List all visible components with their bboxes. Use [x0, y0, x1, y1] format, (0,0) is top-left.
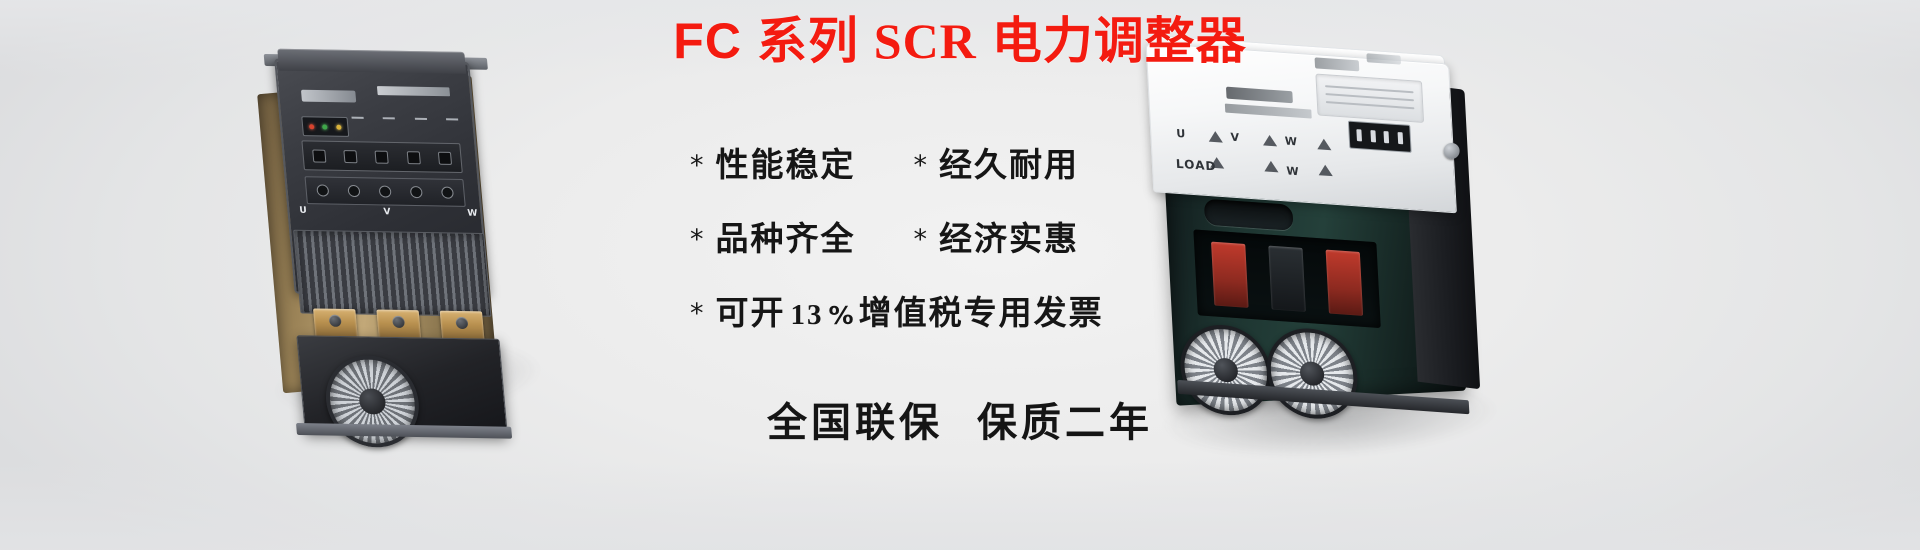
right-dip-switch-block: [1348, 121, 1412, 153]
left-brand-logo: [301, 90, 356, 103]
left-phase-label-v: V: [383, 207, 392, 223]
feature-row-2: * 品种齐全 * 经济实惠: [690, 212, 1210, 260]
left-terminal-block-lower: [304, 176, 465, 207]
left-mounting-bracket-bottom: [296, 423, 512, 439]
bullet-star-icon: *: [914, 226, 928, 253]
feature-row-3: * 可开 13 % 增值税专用发票: [690, 286, 1210, 334]
slogan-part-1: 全国联保: [767, 400, 943, 446]
feature-label-durable: 经久耐用: [939, 138, 1079, 186]
banner-headline: FC 系列 SCR 电力调整器: [0, 8, 1920, 74]
right-phase-label-w: W: [1285, 134, 1298, 148]
headline-scr: SCR: [874, 13, 977, 69]
tax-line-prefix: 可开: [716, 286, 786, 334]
warranty-slogan: 全国联保保质二年: [680, 390, 1240, 448]
product-image-left: U V W: [234, 27, 577, 443]
left-panel-markings: [351, 107, 459, 131]
left-phase-label-w: W: [467, 209, 479, 225]
bullet-star-icon: *: [914, 152, 928, 179]
right-load-w-label: W: [1286, 164, 1299, 178]
feature-item-durable: * 经久耐用: [914, 138, 1080, 186]
feature-item-economical: * 经济实惠: [914, 212, 1080, 260]
headline-fc: FC: [673, 13, 742, 69]
feature-item-invoice: * 可开 13 % 增值税专用发票: [690, 286, 1104, 334]
left-phase-label-u: U: [299, 206, 309, 222]
feature-label-stable: 性能稳定: [716, 138, 856, 186]
left-phase-labels: U V W: [299, 206, 479, 225]
feature-list: * 性能稳定 * 经久耐用 * 品种齐全 * 经济实惠 * 可开: [690, 138, 1210, 360]
left-model-label: [377, 86, 450, 96]
headline-series: 系列: [757, 13, 859, 69]
tax-rate-percent-symbol: %: [829, 301, 854, 330]
headline-product: 电力调整器: [992, 13, 1247, 69]
right-label-slot: [1315, 74, 1424, 123]
feature-label-variety: 品种齐全: [716, 212, 856, 260]
right-phase-label-v: V: [1230, 131, 1239, 145]
product-banner: U V W U V W LOAD W: [0, 0, 1920, 550]
bullet-star-icon: *: [690, 152, 704, 179]
feature-item-variety: * 品种齐全: [690, 212, 856, 260]
feature-row-1: * 性能稳定 * 经久耐用: [690, 138, 1210, 186]
feature-item-stable: * 性能稳定: [690, 138, 856, 186]
tax-rate-value: 13: [791, 299, 824, 332]
tax-line-suffix: 增值税专用发票: [859, 286, 1104, 334]
bullet-star-icon: *: [690, 300, 704, 327]
left-status-led-group: [301, 116, 349, 137]
slogan-part-2: 保质二年: [977, 400, 1153, 446]
bullet-star-icon: *: [690, 226, 704, 253]
feature-label-economical: 经济实惠: [939, 212, 1079, 260]
left-terminal-block-upper: [301, 140, 462, 173]
right-module-vent: [1193, 229, 1380, 328]
headline-text: FC 系列 SCR 电力调整器: [673, 8, 1246, 74]
